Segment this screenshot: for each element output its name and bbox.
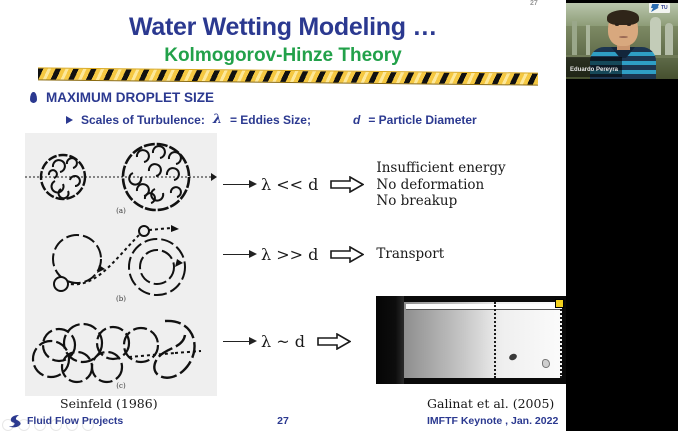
organization-logo: TU (649, 3, 670, 13)
turbulence-figure-panel: (a) (b) (25, 133, 217, 396)
bullet-main: MAXIMUM DROPLET SIZE (30, 90, 214, 105)
decorative-divider (38, 67, 538, 85)
experiment-photograph (376, 296, 566, 384)
watermark-dot-5 (66, 419, 78, 431)
d-definition: = Particle Diameter (368, 113, 476, 127)
webcam-background-structure-2 (586, 25, 590, 55)
implies-arrow-icon (330, 176, 364, 193)
photo-droplet-light (542, 359, 550, 368)
webcam-person-hair (607, 10, 639, 25)
webcam-background-structure-1 (572, 21, 577, 55)
webcam-participant-name: Eduardo Pereyra (570, 67, 618, 73)
photo-dark-region (376, 296, 404, 384)
condition-row-3: λ ~ d (223, 332, 363, 351)
result-line-3: No breakup (376, 193, 457, 209)
webcam-name-badge: Eduardo Pereyra (566, 57, 622, 77)
condition-expression-2: λ >> d (261, 245, 318, 264)
implies-arrow-icon (330, 246, 364, 263)
condition-expression-3: λ ~ d (261, 332, 305, 351)
condition-row-2: λ >> d Transport (223, 245, 444, 264)
letterbox-right (566, 79, 678, 431)
watermark-dot-1 (2, 419, 14, 431)
photo-dashed-line-2 (560, 302, 562, 378)
watermark-dot-3 (34, 419, 46, 431)
figure-case-c: (c) (25, 309, 217, 396)
webcam-background-tank-2 (665, 23, 673, 57)
photo-top-rail (406, 304, 560, 310)
photo-marker-icon (555, 299, 564, 308)
condition-row-1: λ << d Insufficient energy No deformatio… (223, 160, 506, 210)
watermark-dot-2 (18, 419, 30, 431)
webcam-person-mouth (619, 36, 628, 38)
arrow-bullet-icon (66, 116, 73, 124)
d-symbol: d (353, 113, 360, 127)
page-subtitle: Kolmogorov-Hinze Theory (0, 45, 566, 67)
lead-arrow-icon (223, 180, 257, 190)
lightning-logo-icon (651, 4, 659, 12)
photo-dashed-line-1 (494, 302, 496, 378)
webcam-person-eye-right (627, 23, 631, 26)
lambda-symbol: λ (213, 112, 222, 127)
organization-logo-label: TU (661, 5, 668, 11)
citation-left: Seinfeld (1986) (60, 396, 158, 411)
lead-arrow-icon (223, 337, 257, 347)
bullet-main-label: MAXIMUM DROPLET SIZE (46, 90, 214, 105)
bullet-sub-prefix: Scales of Turbulence: (81, 113, 205, 127)
footer-event-label: IMFTF Keynote , Jan. 2022 (427, 415, 558, 427)
figure-case-b: (b) (25, 221, 217, 309)
condition-result-1: Insufficient energy No deformation No br… (376, 160, 505, 210)
watermark-icons (2, 419, 94, 431)
lead-arrow-icon (223, 250, 257, 260)
condition-expression-1: λ << d (261, 175, 318, 194)
webcam-video-tile[interactable]: Eduardo Pereyra (566, 3, 678, 79)
page-title: Water Wetting Modeling … (0, 13, 566, 42)
figure-label-b: (b) (116, 295, 126, 303)
watermark-dot-6 (82, 419, 94, 431)
figure-label-a: (a) (116, 207, 126, 215)
figure-case-a: (a) (25, 133, 217, 221)
lambda-definition: = Eddies Size; (230, 113, 311, 127)
result-line-1: Insufficient energy (376, 160, 505, 176)
implies-arrow-icon (317, 333, 351, 350)
figure-label-c: (c) (116, 382, 125, 390)
droplet-bullet-icon (30, 92, 37, 103)
top-page-number: 27 (530, 0, 538, 7)
photo-pipe-region (404, 302, 562, 378)
webcam-person-eye-left (615, 23, 619, 26)
result-line-2: No deformation (376, 177, 484, 193)
citation-right: Galinat et al. (2005) (427, 396, 554, 411)
bullet-sub: Scales of Turbulence: λ = Eddies Size; d… (66, 112, 477, 127)
condition-result-2: Transport (376, 246, 444, 263)
watermark-dot-4 (50, 419, 62, 431)
